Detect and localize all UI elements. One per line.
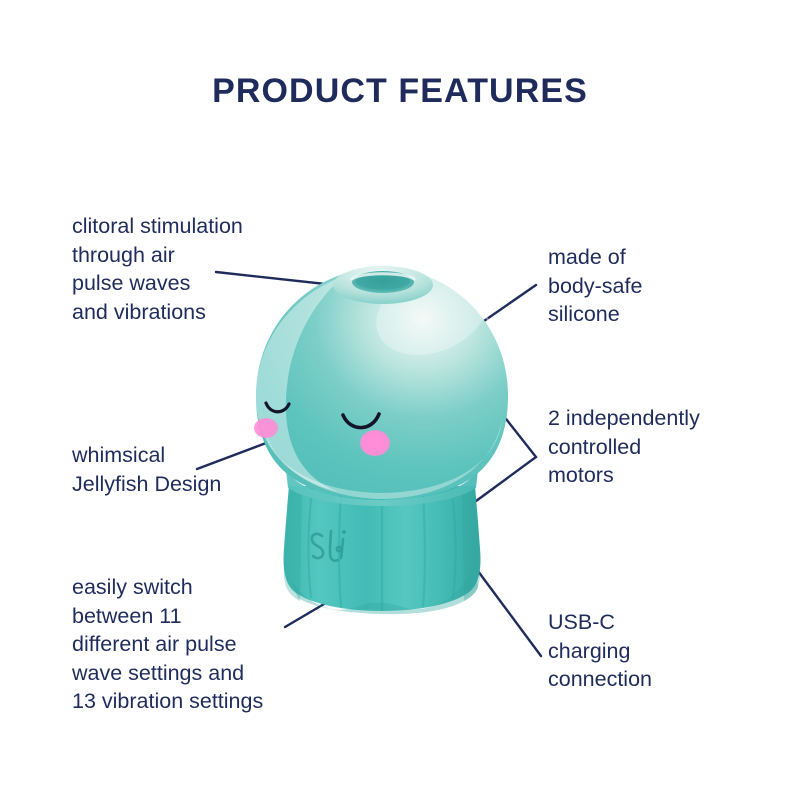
right-cheek: [360, 430, 390, 456]
feature-label-clitoral-stimulation: clitoral stimulation through air pulse w…: [72, 212, 322, 326]
air-pulse-opening: [333, 266, 433, 304]
leader-line-body-safe-silicone: [484, 285, 536, 321]
feature-label-independent-motors: 2 independently controlled motors: [548, 404, 788, 490]
feature-label-air-pulse-settings: easily switch between 11 different air p…: [72, 573, 342, 716]
leader-line-usbc-charging: [472, 563, 541, 656]
base-right-shade: [462, 486, 480, 601]
feature-label-whimsical-design: whimsical Jellyfish Design: [72, 441, 332, 498]
feature-label-body-safe-silicone: made of body-safe silicone: [548, 243, 778, 329]
left-cheek: [254, 418, 278, 438]
feature-label-usbc-charging: USB-C charging connection: [548, 608, 778, 694]
product-features-page: PRODUCT FEATURES: [0, 0, 800, 800]
